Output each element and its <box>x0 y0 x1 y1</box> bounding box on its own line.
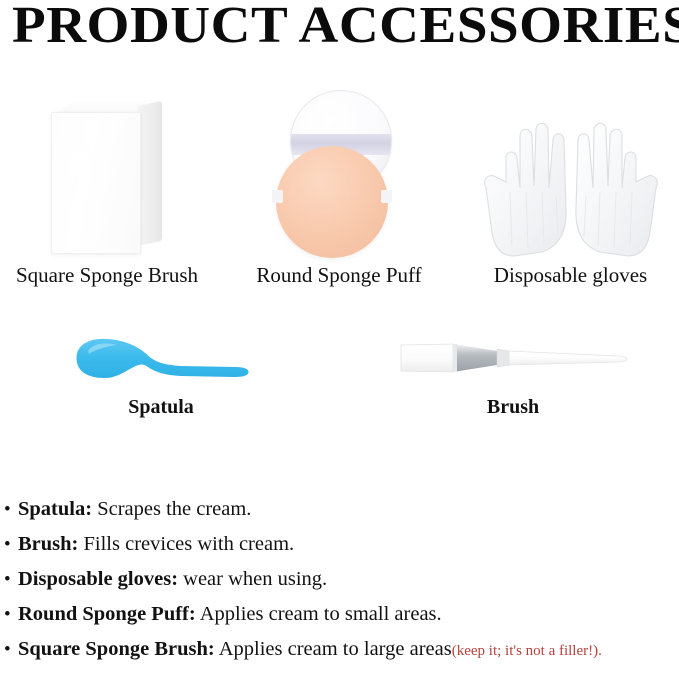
gloves-icon <box>462 86 679 261</box>
list-item-label: Disposable gloves: <box>18 568 178 590</box>
list-item: •Round Sponge Puff: Applies cream to sma… <box>4 597 676 632</box>
list-item-description: Scrapes the cream. <box>97 498 251 520</box>
list-item-description: wear when using. <box>183 568 327 590</box>
product-spatula: Spatula <box>45 330 277 419</box>
product-caption: Round Sponge Puff <box>224 263 454 287</box>
round-puff-icon <box>224 86 454 261</box>
product-disposable-gloves: Disposable gloves <box>462 86 679 287</box>
list-item: •Brush: Fills crevices with cream. <box>4 527 676 562</box>
list-item-label: Square Sponge Brush: <box>18 638 215 660</box>
list-item: •Spatula: Scrapes the cream. <box>4 492 676 527</box>
list-item-description: Applies cream to small areas. <box>200 603 442 625</box>
list-item: •Square Sponge Brush: Applies cream to l… <box>4 632 676 668</box>
product-caption: Brush <box>378 396 648 419</box>
usage-list: •Spatula: Scrapes the cream. •Brush: Fil… <box>4 492 676 668</box>
square-sponge-icon <box>0 86 214 261</box>
product-caption: Disposable gloves <box>462 263 679 287</box>
list-item-note: (keep it; it's not a filler!). <box>452 643 602 659</box>
product-caption: Square Sponge Brush <box>0 263 214 287</box>
product-brush: Brush <box>378 330 648 419</box>
spatula-icon <box>45 330 277 392</box>
bullet-icon: • <box>4 528 18 562</box>
product-caption: Spatula <box>45 396 277 419</box>
brush-icon <box>378 330 648 392</box>
product-square-sponge-brush: Square Sponge Brush <box>0 86 214 287</box>
bullet-icon: • <box>4 563 18 597</box>
product-row-bottom: Spatula <box>0 330 679 440</box>
list-item-label: Spatula: <box>18 498 92 520</box>
list-item-label: Round Sponge Puff: <box>18 603 196 625</box>
bullet-icon: • <box>4 633 18 667</box>
list-item-description: Applies cream to large areas <box>219 638 452 660</box>
bullet-icon: • <box>4 493 18 527</box>
product-row-top: Square Sponge Brush Round Sponge Puff <box>0 86 679 301</box>
list-item: •Disposable gloves: wear when using. <box>4 562 676 597</box>
list-item-description: Fills crevices with cream. <box>84 533 295 555</box>
list-item-label: Brush: <box>18 533 78 555</box>
product-round-sponge-puff: Round Sponge Puff <box>224 86 454 287</box>
bullet-icon: • <box>4 598 18 632</box>
page-title: PRODUCT ACCESSORIES <box>12 0 679 56</box>
